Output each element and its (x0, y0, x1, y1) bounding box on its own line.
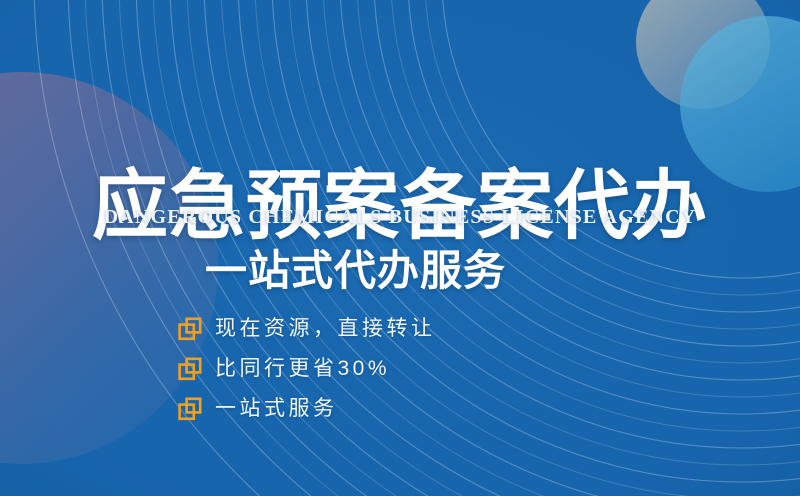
overlapping-squares-icon (178, 357, 202, 381)
english-subtitle: DANGEROUS CHEMICALS BUSINESS LICENSE AGE… (0, 205, 800, 229)
list-item-label: 比同行更省30% (215, 356, 390, 382)
overlapping-squares-icon (178, 397, 202, 421)
list-item-label: 一站式服务 (215, 396, 338, 422)
overlapping-squares-icon (178, 317, 202, 341)
list-item: 现在资源，直接转让 (178, 316, 436, 342)
list-item: 比同行更省30% (178, 356, 436, 382)
feature-list: 现在资源，直接转让 比同行更省30% 一站式 (178, 316, 436, 422)
list-item: 一站式服务 (178, 396, 436, 422)
list-item-label: 现在资源，直接转让 (215, 316, 436, 342)
tagline: 一站式代办服务 (205, 246, 506, 296)
banner-content: 应急预案备案代办 DANGEROUS CHEMICALS BUSINESS LI… (0, 0, 800, 496)
promo-banner: 应急预案备案代办 DANGEROUS CHEMICALS BUSINESS LI… (0, 0, 800, 496)
